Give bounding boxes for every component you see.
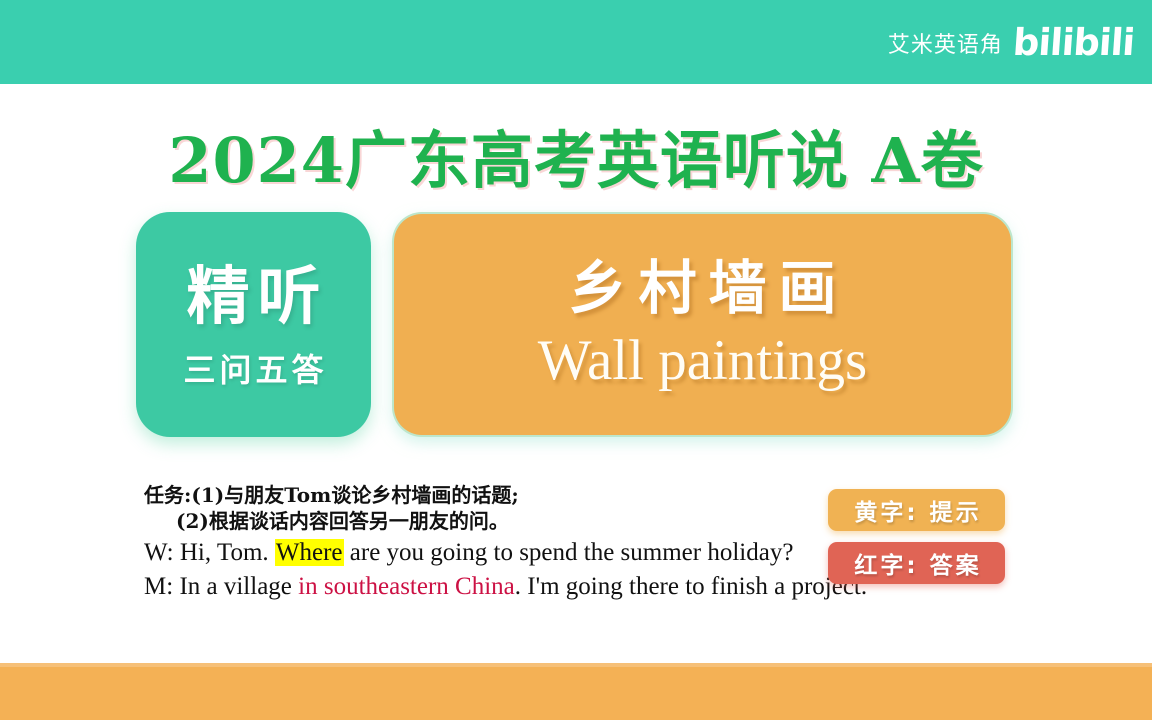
dialogue-line-w-before: Hi, Tom. bbox=[180, 539, 275, 566]
dialogue-line-w-after: are you going to spend the summer holida… bbox=[344, 539, 794, 566]
channel-name-label: 艾米英语角 bbox=[888, 27, 1003, 59]
bottom-footer-bar bbox=[0, 663, 1152, 720]
bottom-bar-top-edge bbox=[0, 663, 1152, 667]
dialogue-answer-highlight: in southeastern China bbox=[298, 573, 515, 600]
task-line-1: 任务:(1)与朋友Tom谈论乡村墙画的话题; bbox=[144, 483, 519, 507]
topic-title-en: Wall paintings bbox=[538, 328, 867, 394]
bilibili-logo-icon: bilibili bbox=[1012, 24, 1136, 61]
page-title: 2024广东高考英语听说 A卷 bbox=[0, 110, 1152, 200]
channel-branding: 艾米英语角 bilibili bbox=[888, 24, 1134, 61]
top-header-bar: 艾米英语角 bilibili bbox=[0, 0, 1152, 84]
listening-mode-sub-label: 三问五答 bbox=[179, 345, 327, 391]
task-description: 任务:(1)与朋友Tom谈论乡村墙画的话题; (2)根据谈话内容回答另一朋友的问… bbox=[144, 482, 519, 535]
legend-answer-badge: 红字: 答案 bbox=[828, 542, 1005, 584]
dialogue-line-m-after: . I'm going there to finish a project. bbox=[515, 573, 867, 600]
dialogue-hint-highlight: Where bbox=[275, 539, 344, 566]
listening-mode-card: 精听 三问五答 bbox=[136, 212, 371, 437]
topic-card: 乡村墙画 Wall paintings bbox=[392, 212, 1013, 437]
topic-title-cn: 乡村墙画 bbox=[556, 255, 848, 322]
dialogue-speaker-w: W: bbox=[144, 539, 180, 566]
dialogue-line-w: W: Hi, Tom. Where are you going to spend… bbox=[144, 536, 867, 570]
task-line-2: (2)根据谈话内容回答另一朋友的问。 bbox=[144, 508, 519, 534]
dialogue-speaker-m: M: bbox=[144, 573, 179, 600]
dialogue-line-m: M: In a village in southeastern China. I… bbox=[144, 570, 867, 604]
legend-group: 黄字: 提示 红字: 答案 bbox=[828, 489, 1005, 584]
dialogue-line-m-before: In a village bbox=[179, 573, 298, 600]
listening-mode-main-label: 精听 bbox=[179, 264, 329, 330]
legend-hint-badge: 黄字: 提示 bbox=[828, 489, 1005, 531]
dialogue-transcript: W: Hi, Tom. Where are you going to spend… bbox=[144, 536, 867, 603]
